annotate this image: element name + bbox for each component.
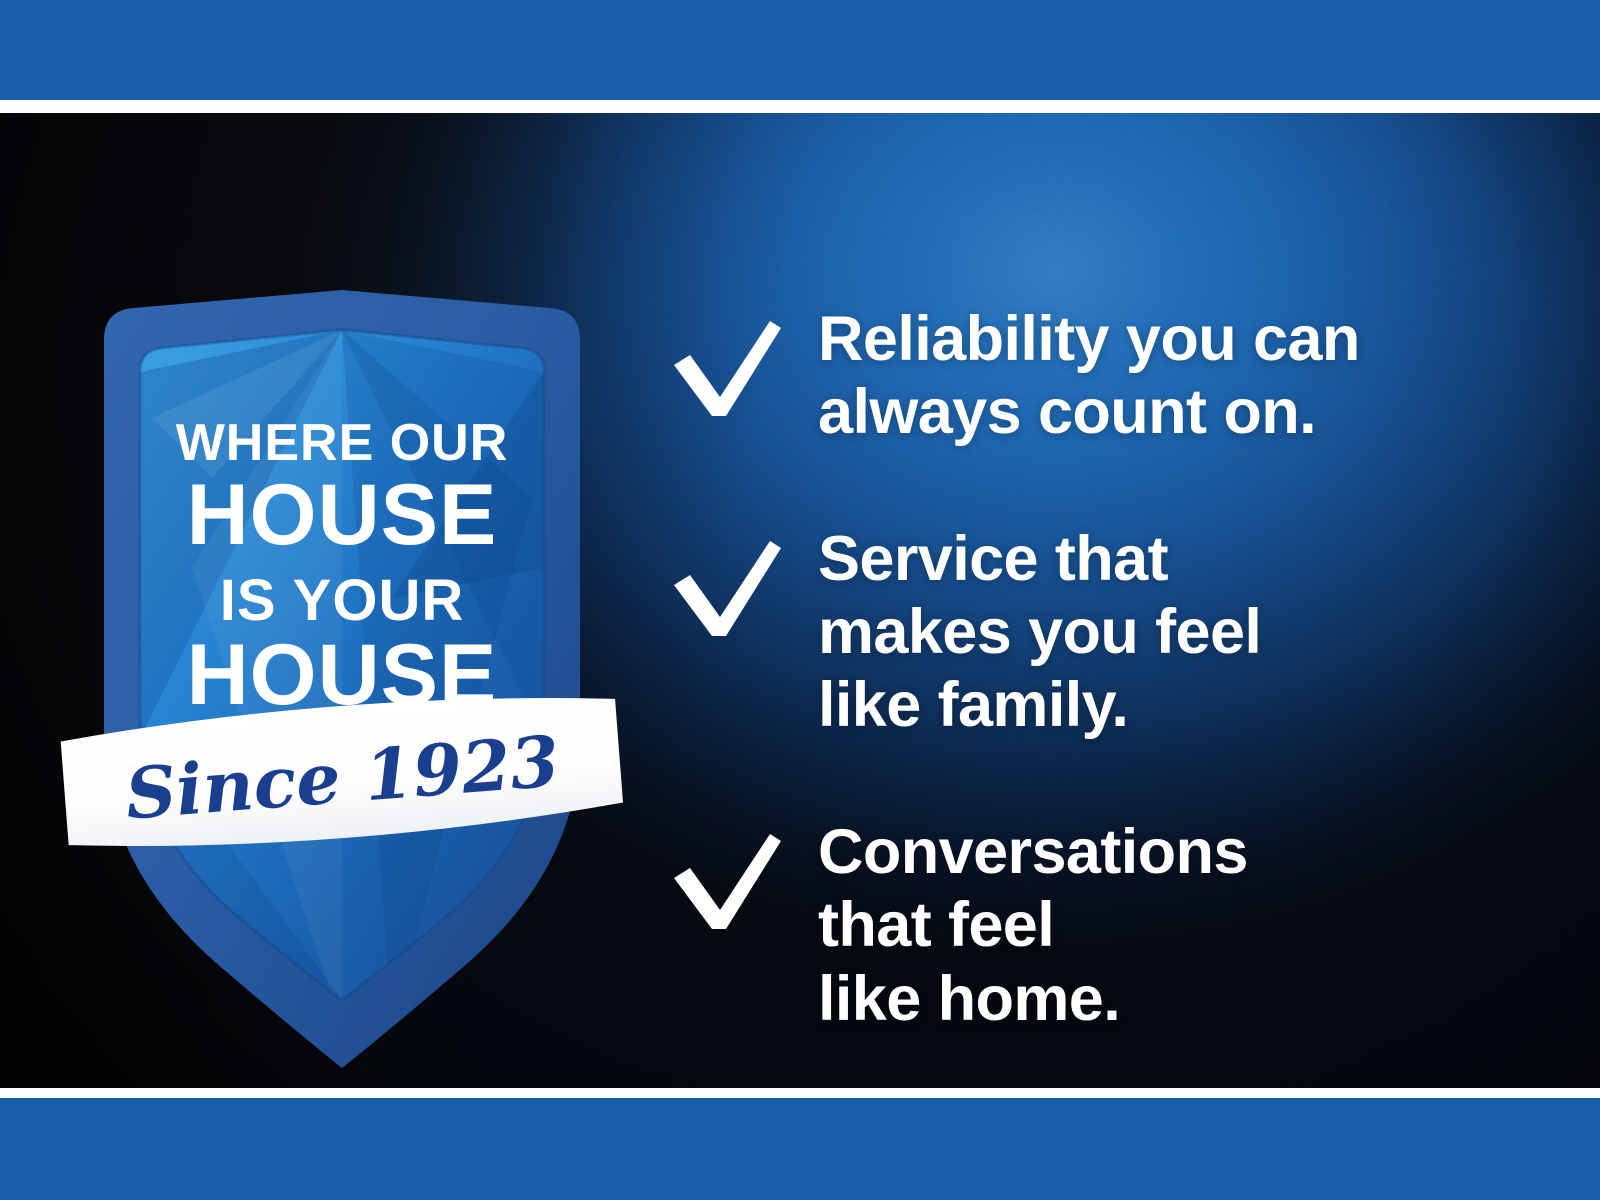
badge-line-2: HOUSE — [187, 467, 498, 563]
badge-line-1: WHERE OUR — [176, 414, 509, 472]
top-brand-bar — [0, 0, 1600, 100]
badge-lockup-text: WHERE OUR HOUSE IS YOUR HOUSE — [176, 414, 509, 723]
main-stage: WHERE OUR HOUSE IS YOUR HOUSE Since 1923 — [0, 113, 1600, 1088]
benefit-item: Conversations that feel like home. — [668, 816, 1548, 1035]
badge: WHERE OUR HOUSE IS YOUR HOUSE Since 1923 — [62, 268, 622, 918]
badge-artwork: WHERE OUR HOUSE IS YOUR HOUSE Since 1923 — [62, 268, 622, 918]
bottom-brand-bar — [0, 1098, 1600, 1200]
benefit-text: Conversations that feel like home. — [818, 816, 1548, 1035]
checkmark-icon — [668, 537, 784, 641]
benefit-item: Service that makes you feel like family. — [668, 523, 1548, 742]
benefits-list: Reliability you can always count on. Ser… — [668, 303, 1548, 1036]
benefit-text: Service that makes you feel like family. — [818, 523, 1548, 742]
checkmark-icon — [668, 317, 784, 421]
benefit-item: Reliability you can always count on. — [668, 303, 1548, 449]
benefit-text: Reliability you can always count on. — [818, 303, 1548, 449]
poster-canvas: WHERE OUR HOUSE IS YOUR HOUSE Since 1923 — [0, 0, 1600, 1200]
badge-line-3: IS YOUR — [220, 568, 464, 633]
checkmark-icon — [668, 830, 784, 934]
